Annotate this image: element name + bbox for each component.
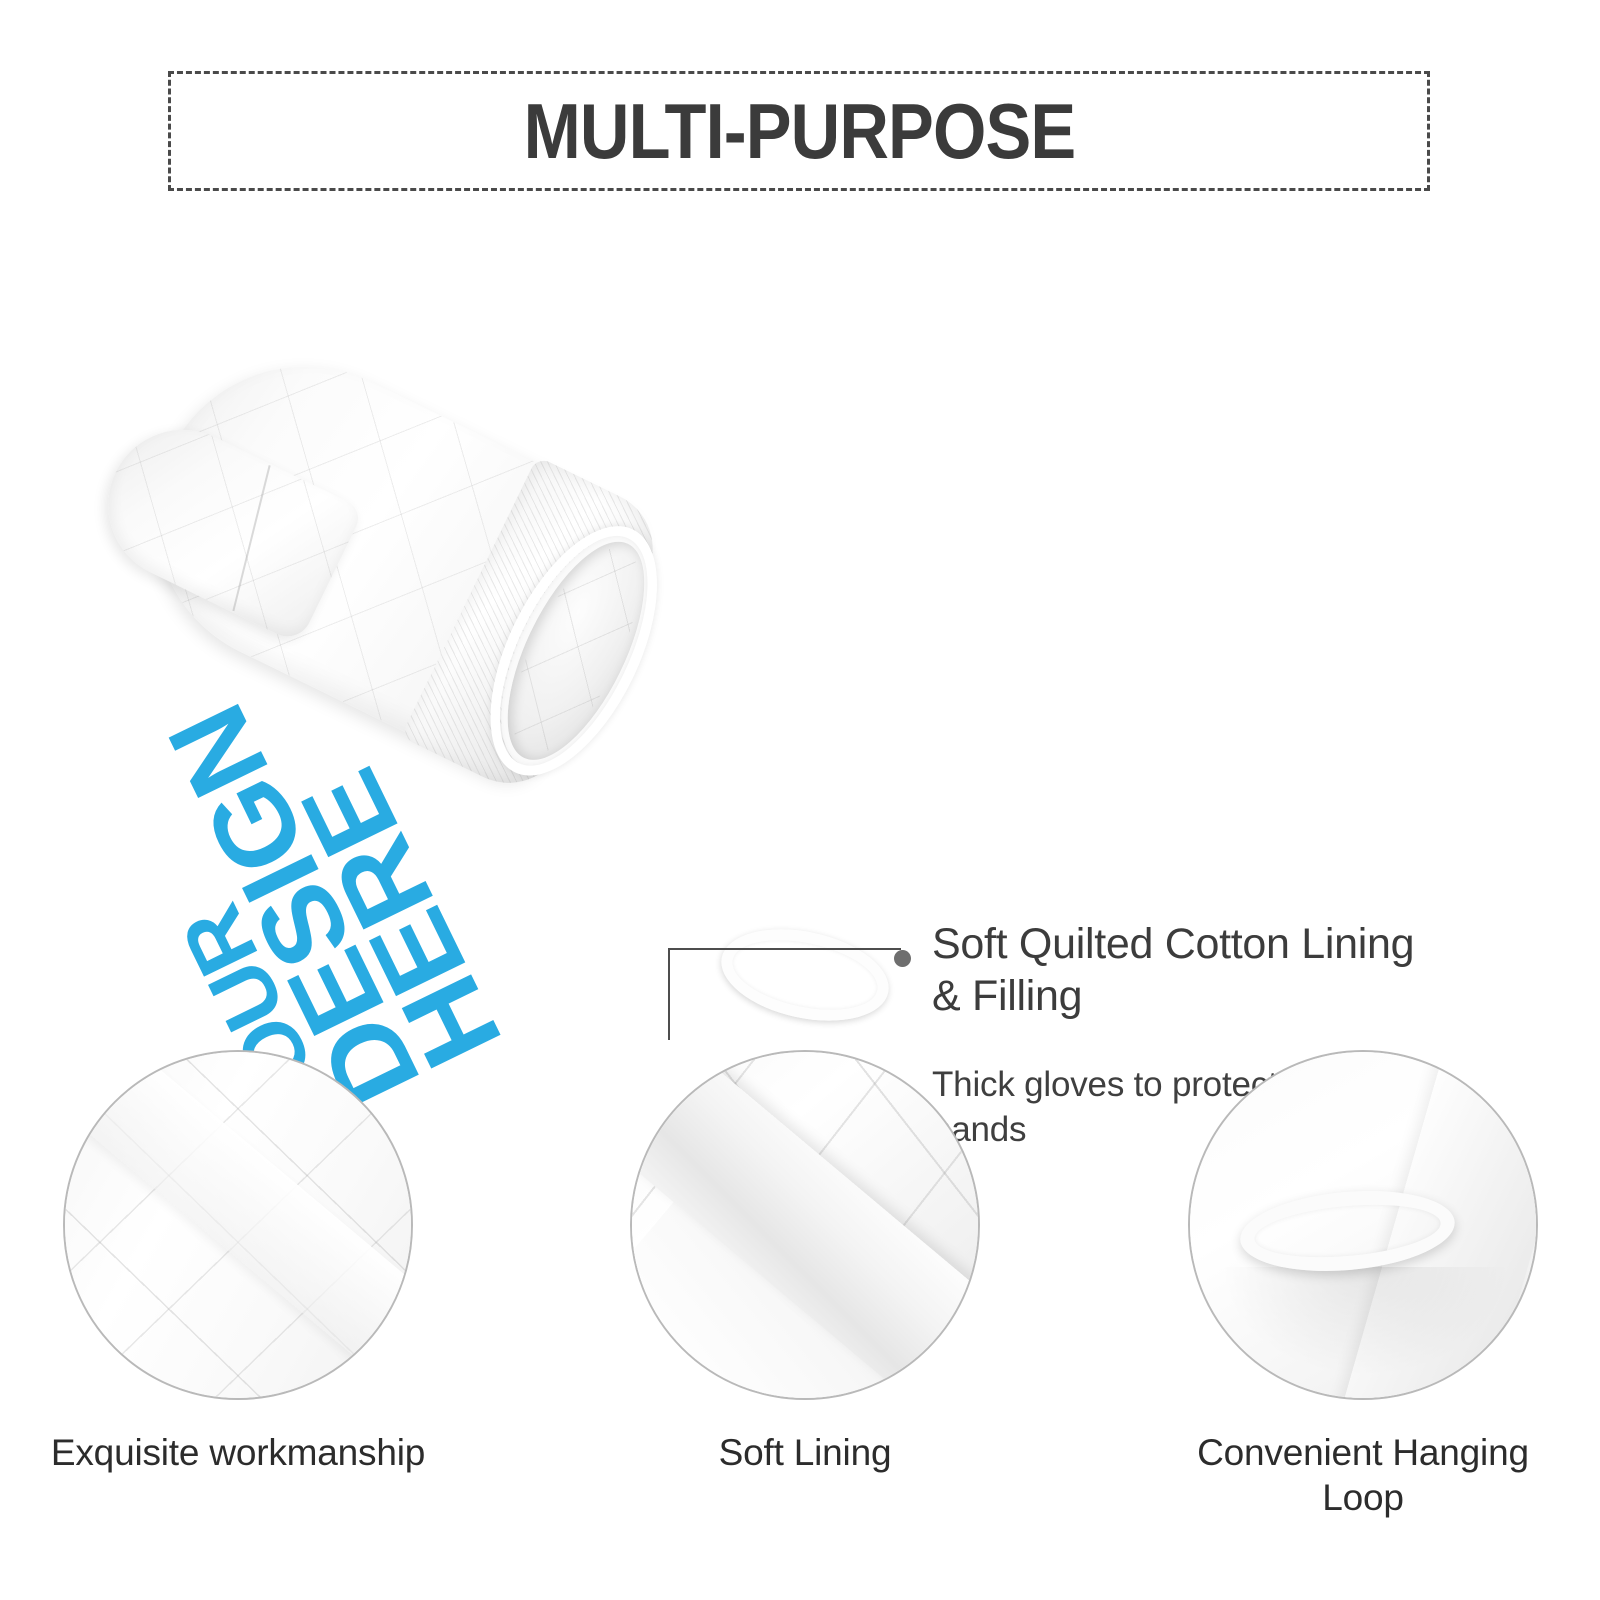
header-banner: MULTI-PURPOSE [168,71,1430,191]
callout-leader-dot [894,950,911,967]
leader-line-horizontal [668,948,901,950]
loop-shadow [1220,1267,1510,1377]
feature-caption: Convenient Hanging Loop [1163,1430,1563,1520]
feature-item: Exquisite workmanship [38,1050,438,1475]
callout-leader-line [668,948,908,1040]
callout-heading: Soft Quilted Cotton Lining & Filling [932,918,1452,1023]
page-title: MULTI-PURPOSE [523,92,1075,170]
feature-item: Convenient Hanging Loop [1163,1050,1563,1520]
product-hero: YOUR DESIGN HERE Soft Quilted Cotton Lin… [0,330,1600,950]
quilted-fabric-closeup-image [63,1050,413,1400]
feature-item: Soft Lining [605,1050,1005,1475]
hanging-loop-closeup-image [1188,1050,1538,1400]
feature-row: Exquisite workmanship Soft Lining Conven… [0,1050,1600,1600]
oven-mitt-assembly [16,299,703,922]
feature-caption: Soft Lining [605,1430,1005,1475]
oven-mitt-image [20,360,780,920]
leader-line-vertical [668,948,670,1040]
soft-lining-closeup-image [630,1050,980,1400]
feature-caption: Exquisite workmanship [38,1430,438,1475]
